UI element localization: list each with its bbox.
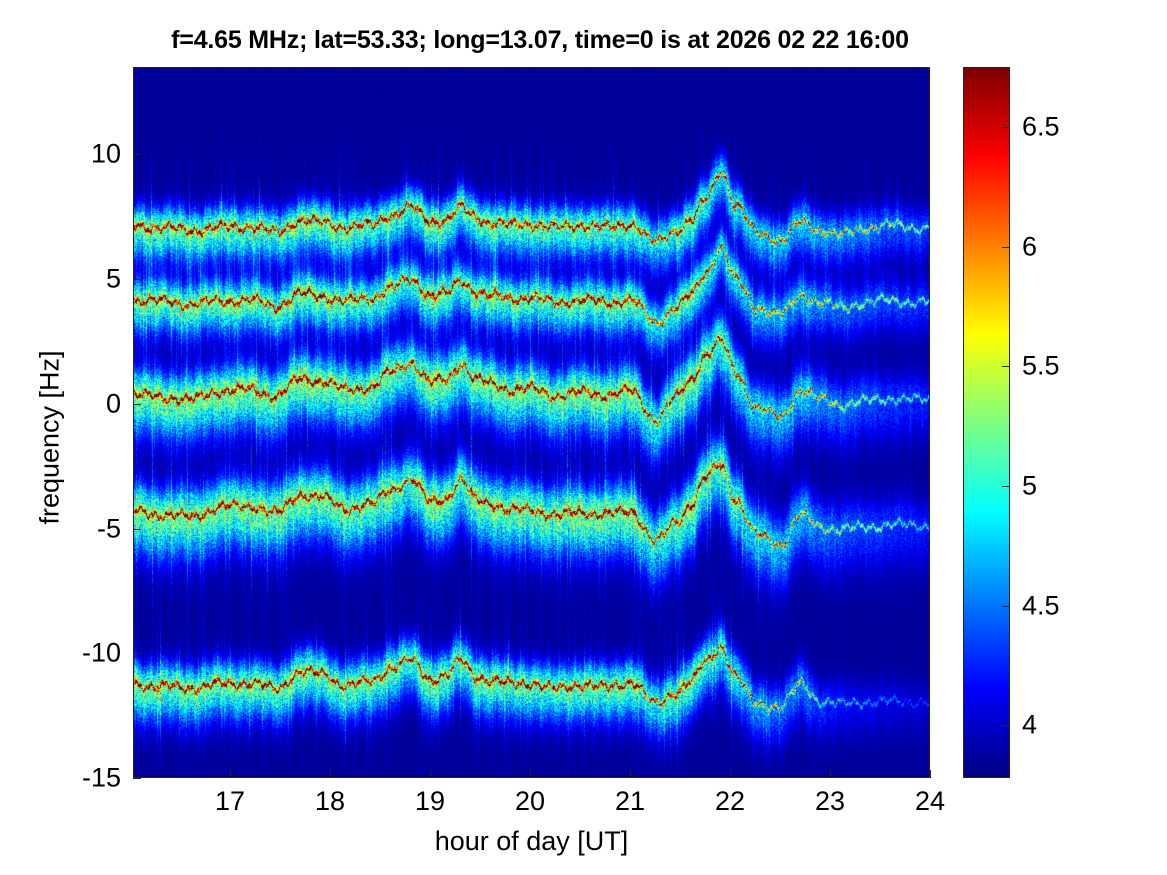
y-tick-mark bbox=[133, 653, 141, 654]
x-tick-mark bbox=[430, 770, 431, 778]
y-axis-title: frequency [Hz] bbox=[35, 188, 66, 688]
x-tick-label: 24 bbox=[890, 786, 970, 817]
y-tick-label: 5 bbox=[0, 264, 121, 295]
colorbar[interactable] bbox=[963, 67, 1010, 778]
colorbar-tick-mark bbox=[1002, 366, 1010, 367]
figure-canvas: f=4.65 MHz; lat=53.33; long=13.07, time=… bbox=[0, 0, 1167, 875]
colorbar-tick-mark bbox=[1002, 127, 1010, 128]
colorbar-tick-label: 6 bbox=[1022, 231, 1112, 262]
x-tick-label: 19 bbox=[390, 786, 470, 817]
spectrogram-heatmap[interactable] bbox=[134, 68, 930, 778]
x-tick-label: 21 bbox=[590, 786, 670, 817]
x-tick-mark bbox=[830, 770, 831, 778]
x-tick-label: 20 bbox=[490, 786, 570, 817]
y-tick-label: 0 bbox=[0, 388, 121, 419]
colorbar-tick-mark bbox=[1002, 725, 1010, 726]
x-tick-mark bbox=[330, 770, 331, 778]
y-tick-mark bbox=[133, 279, 141, 280]
x-tick-label: 22 bbox=[690, 786, 770, 817]
colorbar-tick-label: 5.5 bbox=[1022, 351, 1112, 382]
colorbar-tick-mark bbox=[1002, 486, 1010, 487]
y-tick-label: -10 bbox=[0, 638, 121, 669]
x-tick-label: 18 bbox=[290, 786, 370, 817]
y-tick-mark bbox=[133, 778, 141, 779]
y-tick-mark bbox=[133, 529, 141, 530]
colorbar-tick-label: 5 bbox=[1022, 470, 1112, 501]
x-tick-mark bbox=[230, 770, 231, 778]
x-axis-title: hour of day [UT] bbox=[133, 826, 930, 857]
colorbar-tick-mark bbox=[1002, 606, 1010, 607]
x-tick-label: 23 bbox=[790, 786, 870, 817]
x-tick-mark bbox=[930, 770, 931, 778]
colorbar-tick-label: 4.5 bbox=[1022, 590, 1112, 621]
x-tick-label: 17 bbox=[190, 786, 270, 817]
x-tick-mark bbox=[630, 770, 631, 778]
x-tick-mark bbox=[530, 770, 531, 778]
y-tick-label: -15 bbox=[0, 763, 121, 794]
y-tick-label: 10 bbox=[0, 139, 121, 170]
colorbar-gradient[interactable] bbox=[963, 67, 1010, 778]
y-tick-label: -5 bbox=[0, 513, 121, 544]
colorbar-tick-mark bbox=[1002, 247, 1010, 248]
y-tick-mark bbox=[133, 154, 141, 155]
colorbar-tick-label: 6.5 bbox=[1022, 111, 1112, 142]
x-tick-mark bbox=[730, 770, 731, 778]
colorbar-tick-label: 4 bbox=[1022, 710, 1112, 741]
page-title: f=4.65 MHz; lat=53.33; long=13.07, time=… bbox=[0, 26, 1080, 55]
plot-area[interactable] bbox=[133, 67, 930, 778]
y-tick-mark bbox=[133, 404, 141, 405]
